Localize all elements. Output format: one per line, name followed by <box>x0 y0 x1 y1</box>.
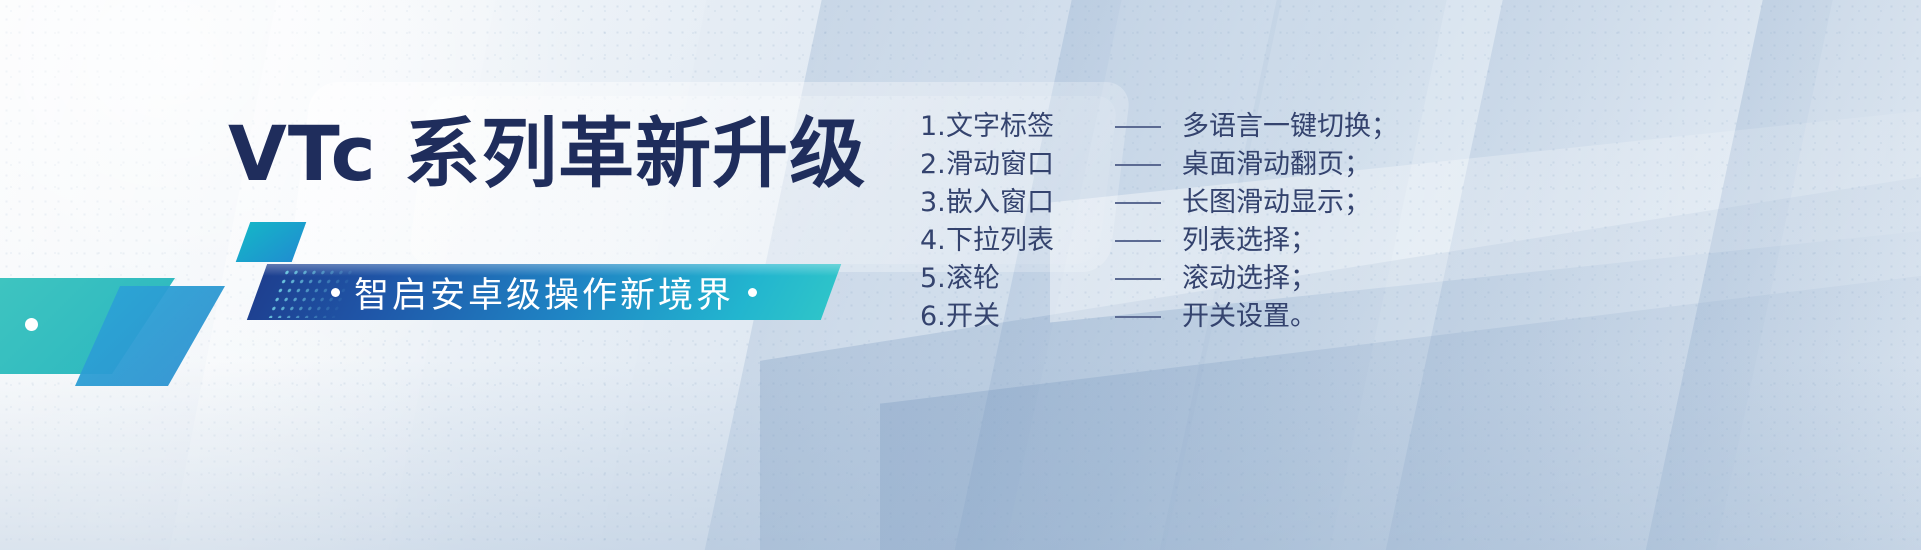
feature-number: 4. <box>920 222 946 260</box>
feature-description: 开关设置。 <box>1182 298 1317 336</box>
feature-name: 滚轮 <box>946 260 1094 298</box>
feature-number: 3. <box>920 184 946 222</box>
feature-number: 2. <box>920 146 946 184</box>
list-item: 6. 开关 开关设置。 <box>920 298 1398 336</box>
subtitle-ribbon: 智启安卓级操作新境界 <box>243 222 833 300</box>
list-item: 2. 滑动窗口 桌面滑动翻页； <box>920 146 1398 184</box>
list-item: 1. 文字标签 多语言一键切换； <box>920 108 1398 146</box>
feature-list: 1. 文字标签 多语言一键切换； 2. 滑动窗口 桌面滑动翻页； 3. 嵌入窗口… <box>920 108 1398 336</box>
feature-description: 长图滑动显示； <box>1182 184 1371 222</box>
feature-name: 开关 <box>946 298 1094 336</box>
ribbon-accent-icon <box>236 222 307 262</box>
bullet-dot-left-icon <box>331 288 340 297</box>
list-item: 3. 嵌入窗口 长图滑动显示； <box>920 184 1398 222</box>
chevron-dot-icon <box>25 318 38 331</box>
product-banner: VTc 系列革新升级 智启安卓级操作新境界 1. 文字标签 多语言一键切换； 2… <box>0 0 1921 550</box>
feature-description: 列表选择； <box>1182 222 1317 260</box>
bullet-dot-right-icon <box>748 288 757 297</box>
feature-name: 滑动窗口 <box>946 146 1094 184</box>
subtitle-text: 智启安卓级操作新境界 <box>354 267 734 318</box>
feature-dash-icon <box>1094 202 1182 204</box>
headline-wrapper: VTc 系列革新升级 <box>228 116 866 192</box>
subtitle-text-group: 智启安卓级操作新境界 <box>257 264 831 320</box>
page-title: VTc 系列革新升级 <box>228 116 866 192</box>
feature-dash-icon <box>1094 278 1182 280</box>
bottom-shade <box>0 360 1921 550</box>
feature-number: 1. <box>920 108 946 146</box>
feature-number: 6. <box>920 298 946 336</box>
feature-name: 文字标签 <box>946 108 1094 146</box>
feature-dash-icon <box>1094 240 1182 242</box>
list-item: 4. 下拉列表 列表选择； <box>920 222 1398 260</box>
feature-description: 滚动选择； <box>1182 260 1317 298</box>
feature-dash-icon <box>1094 164 1182 166</box>
list-item: 5. 滚轮 滚动选择； <box>920 260 1398 298</box>
feature-number: 5. <box>920 260 946 298</box>
feature-dash-icon <box>1094 316 1182 318</box>
feature-name: 嵌入窗口 <box>946 184 1094 222</box>
feature-description: 多语言一键切换； <box>1182 108 1398 146</box>
feature-name: 下拉列表 <box>946 222 1094 260</box>
feature-description: 桌面滑动翻页； <box>1182 146 1371 184</box>
feature-dash-icon <box>1094 126 1182 128</box>
